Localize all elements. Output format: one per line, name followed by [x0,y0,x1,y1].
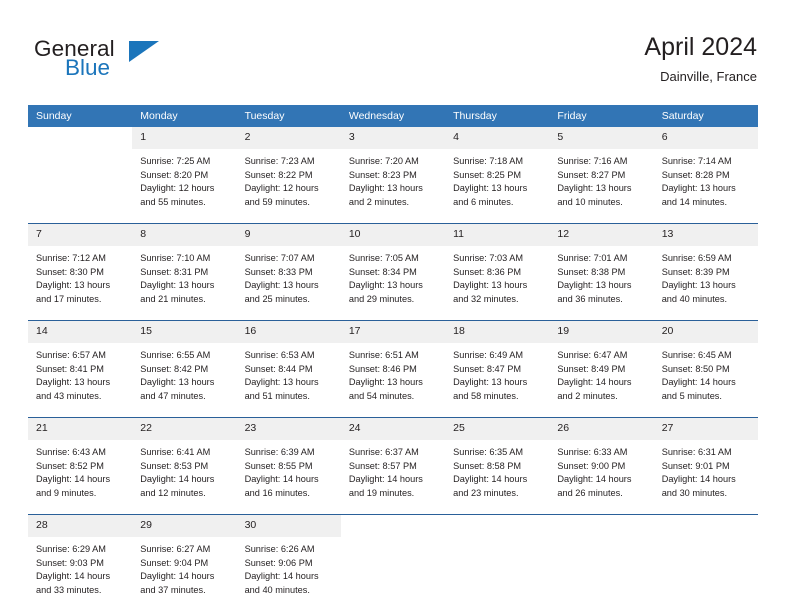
daylight-duration-line2: and 59 minutes. [245,196,335,210]
daylight-duration-line1: Daylight: 13 hours [245,376,335,390]
sunset-time: Sunset: 8:30 PM [36,266,126,280]
sunrise-time: Sunrise: 7:05 AM [349,252,439,266]
sunrise-time: Sunrise: 7:12 AM [36,252,126,266]
day-number: 15 [132,321,236,343]
day-details: Sunrise: 7:05 AMSunset: 8:34 PMDaylight:… [341,246,445,320]
day-details: Sunrise: 7:07 AMSunset: 8:33 PMDaylight:… [237,246,341,320]
day-details: Sunrise: 7:10 AMSunset: 8:31 PMDaylight:… [132,246,236,320]
sunset-time: Sunset: 9:06 PM [245,557,335,571]
day-details: Sunrise: 6:27 AMSunset: 9:04 PMDaylight:… [132,537,236,611]
weekday-header-row: Sunday Monday Tuesday Wednesday Thursday… [28,105,758,127]
sunrise-time: Sunrise: 7:03 AM [453,252,543,266]
calendar-day-cell[interactable]: 6Sunrise: 7:14 AMSunset: 8:28 PMDaylight… [654,127,758,224]
sunrise-time: Sunrise: 6:59 AM [662,252,752,266]
calendar-header-row-group: Sunday Monday Tuesday Wednesday Thursday… [28,105,758,127]
calendar-day-cell[interactable]: 3Sunrise: 7:20 AMSunset: 8:23 PMDaylight… [341,127,445,224]
day-number: 4 [445,127,549,149]
day-details: Sunrise: 6:45 AMSunset: 8:50 PMDaylight:… [654,343,758,417]
day-details: Sunrise: 7:18 AMSunset: 8:25 PMDaylight:… [445,149,549,223]
sunrise-time: Sunrise: 7:20 AM [349,155,439,169]
weekday-header-sunday: Sunday [28,105,132,127]
daylight-duration-line2: and 55 minutes. [140,196,230,210]
day-details: Sunrise: 6:37 AMSunset: 8:57 PMDaylight:… [341,440,445,514]
sunrise-time: Sunrise: 6:27 AM [140,543,230,557]
sunset-time: Sunset: 8:33 PM [245,266,335,280]
sunset-time: Sunset: 8:49 PM [557,363,647,377]
calendar-week-row: 28Sunrise: 6:29 AMSunset: 9:03 PMDayligh… [28,515,758,612]
page-header: General Blue April 2024 Dainville, Franc… [0,0,792,100]
sunset-time: Sunset: 8:23 PM [349,169,439,183]
day-number: 14 [28,321,132,343]
daylight-duration-line1: Daylight: 13 hours [557,182,647,196]
sunset-time: Sunset: 8:39 PM [662,266,752,280]
daylight-duration-line2: and 58 minutes. [453,390,543,404]
sunset-time: Sunset: 8:36 PM [453,266,543,280]
sunset-time: Sunset: 8:27 PM [557,169,647,183]
sunrise-time: Sunrise: 6:37 AM [349,446,439,460]
daylight-duration-line1: Daylight: 13 hours [245,279,335,293]
calendar-day-cell[interactable]: 2Sunrise: 7:23 AMSunset: 8:22 PMDaylight… [237,127,341,224]
day-details: Sunrise: 6:35 AMSunset: 8:58 PMDaylight:… [445,440,549,514]
calendar-week-row: 1Sunrise: 7:25 AMSunset: 8:20 PMDaylight… [28,127,758,224]
daylight-duration-line1: Daylight: 14 hours [662,376,752,390]
calendar-day-cell[interactable]: 14Sunrise: 6:57 AMSunset: 8:41 PMDayligh… [28,321,132,418]
calendar-day-cell[interactable]: 8Sunrise: 7:10 AMSunset: 8:31 PMDaylight… [132,224,236,321]
calendar-day-cell[interactable]: 11Sunrise: 7:03 AMSunset: 8:36 PMDayligh… [445,224,549,321]
calendar-day-cell-empty [28,127,132,224]
calendar-day-cell[interactable]: 10Sunrise: 7:05 AMSunset: 8:34 PMDayligh… [341,224,445,321]
day-number: 24 [341,418,445,440]
sunrise-sunset-calendar-table: Sunday Monday Tuesday Wednesday Thursday… [28,105,758,611]
day-number: 5 [549,127,653,149]
sunrise-time: Sunrise: 6:41 AM [140,446,230,460]
sunrise-time: Sunrise: 6:51 AM [349,349,439,363]
page-title: April 2024 [644,32,757,62]
sunrise-time: Sunrise: 7:07 AM [245,252,335,266]
daylight-duration-line1: Daylight: 14 hours [245,570,335,584]
calendar-day-cell[interactable]: 12Sunrise: 7:01 AMSunset: 8:38 PMDayligh… [549,224,653,321]
day-number: 17 [341,321,445,343]
calendar-day-cell-empty [549,515,653,612]
sunrise-time: Sunrise: 7:16 AM [557,155,647,169]
sunset-time: Sunset: 8:31 PM [140,266,230,280]
sunrise-time: Sunrise: 6:49 AM [453,349,543,363]
sunrise-time: Sunrise: 6:55 AM [140,349,230,363]
day-details: Sunrise: 6:51 AMSunset: 8:46 PMDaylight:… [341,343,445,417]
sunrise-time: Sunrise: 6:33 AM [557,446,647,460]
daylight-duration-line1: Daylight: 13 hours [557,279,647,293]
calendar-day-cell[interactable]: 25Sunrise: 6:35 AMSunset: 8:58 PMDayligh… [445,418,549,515]
calendar-day-cell[interactable]: 26Sunrise: 6:33 AMSunset: 9:00 PMDayligh… [549,418,653,515]
sunrise-time: Sunrise: 7:18 AM [453,155,543,169]
day-number: 29 [132,515,236,537]
day-number: 3 [341,127,445,149]
day-details: Sunrise: 7:20 AMSunset: 8:23 PMDaylight:… [341,149,445,223]
daylight-duration-line1: Daylight: 14 hours [557,473,647,487]
day-number [445,515,549,537]
daylight-duration-line1: Daylight: 14 hours [557,376,647,390]
calendar-day-cell[interactable]: 9Sunrise: 7:07 AMSunset: 8:33 PMDaylight… [237,224,341,321]
calendar-body: 1Sunrise: 7:25 AMSunset: 8:20 PMDaylight… [28,127,758,611]
sunrise-time: Sunrise: 6:47 AM [557,349,647,363]
day-number: 1 [132,127,236,149]
calendar-day-cell[interactable]: 19Sunrise: 6:47 AMSunset: 8:49 PMDayligh… [549,321,653,418]
daylight-duration-line2: and 2 minutes. [557,390,647,404]
general-blue-logo: General Blue [34,36,234,88]
day-details [28,149,132,223]
daylight-duration-line2: and 26 minutes. [557,487,647,501]
day-number: 25 [445,418,549,440]
daylight-duration-line1: Daylight: 13 hours [453,376,543,390]
daylight-duration-line1: Daylight: 12 hours [140,182,230,196]
title-block: April 2024 Dainville, France [644,32,757,86]
day-details: Sunrise: 7:03 AMSunset: 8:36 PMDaylight:… [445,246,549,320]
day-number: 10 [341,224,445,246]
day-number: 8 [132,224,236,246]
day-details: Sunrise: 6:49 AMSunset: 8:47 PMDaylight:… [445,343,549,417]
day-number: 20 [654,321,758,343]
calendar-day-cell[interactable]: 28Sunrise: 6:29 AMSunset: 9:03 PMDayligh… [28,515,132,612]
day-details: Sunrise: 6:43 AMSunset: 8:52 PMDaylight:… [28,440,132,514]
sunrise-time: Sunrise: 6:39 AM [245,446,335,460]
day-number: 12 [549,224,653,246]
daylight-duration-line2: and 9 minutes. [36,487,126,501]
calendar-day-cell-empty [445,515,549,612]
daylight-duration-line2: and 37 minutes. [140,584,230,598]
day-number: 6 [654,127,758,149]
daylight-duration-line1: Daylight: 13 hours [662,279,752,293]
daylight-duration-line1: Daylight: 14 hours [349,473,439,487]
daylight-duration-line1: Daylight: 13 hours [349,279,439,293]
sunrise-time: Sunrise: 6:43 AM [36,446,126,460]
calendar-day-cell[interactable]: 21Sunrise: 6:43 AMSunset: 8:52 PMDayligh… [28,418,132,515]
weekday-header-tuesday: Tuesday [237,105,341,127]
weekday-header-thursday: Thursday [445,105,549,127]
daylight-duration-line1: Daylight: 14 hours [140,473,230,487]
calendar-week-row: 21Sunrise: 6:43 AMSunset: 8:52 PMDayligh… [28,418,758,515]
calendar-day-cell[interactable]: 29Sunrise: 6:27 AMSunset: 9:04 PMDayligh… [132,515,236,612]
daylight-duration-line2: and 6 minutes. [453,196,543,210]
sunrise-time: Sunrise: 6:26 AM [245,543,335,557]
sunrise-time: Sunrise: 7:25 AM [140,155,230,169]
calendar-day-cell[interactable]: 16Sunrise: 6:53 AMSunset: 8:44 PMDayligh… [237,321,341,418]
daylight-duration-line2: and 32 minutes. [453,293,543,307]
sunrise-time: Sunrise: 6:29 AM [36,543,126,557]
daylight-duration-line1: Daylight: 14 hours [140,570,230,584]
day-number: 13 [654,224,758,246]
day-details: Sunrise: 6:33 AMSunset: 9:00 PMDaylight:… [549,440,653,514]
sunrise-time: Sunrise: 6:57 AM [36,349,126,363]
daylight-duration-line2: and 16 minutes. [245,487,335,501]
calendar-day-cell[interactable]: 17Sunrise: 6:51 AMSunset: 8:46 PMDayligh… [341,321,445,418]
daylight-duration-line2: and 47 minutes. [140,390,230,404]
daylight-duration-line1: Daylight: 13 hours [36,279,126,293]
day-details: Sunrise: 6:47 AMSunset: 8:49 PMDaylight:… [549,343,653,417]
day-details: Sunrise: 7:16 AMSunset: 8:27 PMDaylight:… [549,149,653,223]
sunrise-time: Sunrise: 6:35 AM [453,446,543,460]
day-details: Sunrise: 6:39 AMSunset: 8:55 PMDaylight:… [237,440,341,514]
day-number: 18 [445,321,549,343]
daylight-duration-line2: and 33 minutes. [36,584,126,598]
calendar-day-cell[interactable]: 22Sunrise: 6:41 AMSunset: 8:53 PMDayligh… [132,418,236,515]
sunset-time: Sunset: 9:00 PM [557,460,647,474]
calendar-day-cell-empty [341,515,445,612]
daylight-duration-line1: Daylight: 13 hours [453,279,543,293]
calendar-day-cell[interactable]: 24Sunrise: 6:37 AMSunset: 8:57 PMDayligh… [341,418,445,515]
day-details: Sunrise: 6:57 AMSunset: 8:41 PMDaylight:… [28,343,132,417]
daylight-duration-line1: Daylight: 14 hours [245,473,335,487]
day-number: 22 [132,418,236,440]
day-number: 23 [237,418,341,440]
daylight-duration-line2: and 25 minutes. [245,293,335,307]
daylight-duration-line2: and 30 minutes. [662,487,752,501]
day-number [549,515,653,537]
day-number [341,515,445,537]
daylight-duration-line1: Daylight: 13 hours [36,376,126,390]
weekday-header-friday: Friday [549,105,653,127]
calendar-week-row: 14Sunrise: 6:57 AMSunset: 8:41 PMDayligh… [28,321,758,418]
sunset-time: Sunset: 8:50 PM [662,363,752,377]
calendar-page: General Blue April 2024 Dainville, Franc… [0,0,792,612]
daylight-duration-line2: and 21 minutes. [140,293,230,307]
day-number: 26 [549,418,653,440]
day-number: 30 [237,515,341,537]
daylight-duration-line1: Daylight: 12 hours [245,182,335,196]
day-number: 7 [28,224,132,246]
daylight-duration-line1: Daylight: 14 hours [453,473,543,487]
sunset-time: Sunset: 8:47 PM [453,363,543,377]
daylight-duration-line1: Daylight: 13 hours [453,182,543,196]
daylight-duration-line2: and 19 minutes. [349,487,439,501]
daylight-duration-line2: and 23 minutes. [453,487,543,501]
daylight-duration-line1: Daylight: 13 hours [349,182,439,196]
weekday-header-wednesday: Wednesday [341,105,445,127]
daylight-duration-line1: Daylight: 14 hours [36,473,126,487]
sunrise-time: Sunrise: 6:45 AM [662,349,752,363]
day-number: 9 [237,224,341,246]
calendar-day-cell[interactable]: 1Sunrise: 7:25 AMSunset: 8:20 PMDaylight… [132,127,236,224]
sunrise-time: Sunrise: 6:31 AM [662,446,752,460]
calendar-day-cell[interactable]: 13Sunrise: 6:59 AMSunset: 8:39 PMDayligh… [654,224,758,321]
sunrise-time: Sunrise: 6:53 AM [245,349,335,363]
sunset-time: Sunset: 8:41 PM [36,363,126,377]
logo-triangle-icon [129,41,159,62]
daylight-duration-line2: and 36 minutes. [557,293,647,307]
daylight-duration-line2: and 40 minutes. [662,293,752,307]
daylight-duration-line2: and 40 minutes. [245,584,335,598]
calendar-day-cell[interactable]: 23Sunrise: 6:39 AMSunset: 8:55 PMDayligh… [237,418,341,515]
day-details [341,537,445,611]
calendar-day-cell[interactable]: 18Sunrise: 6:49 AMSunset: 8:47 PMDayligh… [445,321,549,418]
sunset-time: Sunset: 8:42 PM [140,363,230,377]
calendar-day-cell-empty [654,515,758,612]
day-number [28,127,132,149]
sunset-time: Sunset: 8:28 PM [662,169,752,183]
calendar-day-cell[interactable]: 7Sunrise: 7:12 AMSunset: 8:30 PMDaylight… [28,224,132,321]
day-details: Sunrise: 6:31 AMSunset: 9:01 PMDaylight:… [654,440,758,514]
calendar-day-cell[interactable]: 4Sunrise: 7:18 AMSunset: 8:25 PMDaylight… [445,127,549,224]
day-details: Sunrise: 6:55 AMSunset: 8:42 PMDaylight:… [132,343,236,417]
calendar-day-cell[interactable]: 5Sunrise: 7:16 AMSunset: 8:27 PMDaylight… [549,127,653,224]
daylight-duration-line1: Daylight: 14 hours [36,570,126,584]
weekday-header-saturday: Saturday [654,105,758,127]
daylight-duration-line1: Daylight: 13 hours [140,279,230,293]
sunset-time: Sunset: 8:34 PM [349,266,439,280]
sunset-time: Sunset: 8:44 PM [245,363,335,377]
page-subtitle: Dainville, France [644,68,757,86]
sunset-time: Sunset: 8:46 PM [349,363,439,377]
day-number [654,515,758,537]
sunset-time: Sunset: 8:57 PM [349,460,439,474]
sunset-time: Sunset: 9:04 PM [140,557,230,571]
day-details: Sunrise: 7:14 AMSunset: 8:28 PMDaylight:… [654,149,758,223]
calendar-day-cell[interactable]: 27Sunrise: 6:31 AMSunset: 9:01 PMDayligh… [654,418,758,515]
sunset-time: Sunset: 8:52 PM [36,460,126,474]
sunrise-time: Sunrise: 7:23 AM [245,155,335,169]
day-details: Sunrise: 7:01 AMSunset: 8:38 PMDaylight:… [549,246,653,320]
calendar-day-cell[interactable]: 20Sunrise: 6:45 AMSunset: 8:50 PMDayligh… [654,321,758,418]
day-details [654,537,758,611]
daylight-duration-line2: and 54 minutes. [349,390,439,404]
calendar-day-cell[interactable]: 30Sunrise: 6:26 AMSunset: 9:06 PMDayligh… [237,515,341,612]
day-details: Sunrise: 6:53 AMSunset: 8:44 PMDaylight:… [237,343,341,417]
logo-text-blue: Blue [65,55,110,81]
daylight-duration-line2: and 29 minutes. [349,293,439,307]
sunrise-time: Sunrise: 7:14 AM [662,155,752,169]
sunset-time: Sunset: 8:38 PM [557,266,647,280]
day-details: Sunrise: 6:26 AMSunset: 9:06 PMDaylight:… [237,537,341,611]
calendar-week-row: 7Sunrise: 7:12 AMSunset: 8:30 PMDaylight… [28,224,758,321]
sunset-time: Sunset: 8:25 PM [453,169,543,183]
daylight-duration-line1: Daylight: 14 hours [662,473,752,487]
day-number: 16 [237,321,341,343]
day-number: 11 [445,224,549,246]
day-number: 27 [654,418,758,440]
sunset-time: Sunset: 9:01 PM [662,460,752,474]
daylight-duration-line2: and 10 minutes. [557,196,647,210]
daylight-duration-line2: and 51 minutes. [245,390,335,404]
daylight-duration-line2: and 5 minutes. [662,390,752,404]
sunset-time: Sunset: 8:55 PM [245,460,335,474]
daylight-duration-line1: Daylight: 13 hours [662,182,752,196]
day-details: Sunrise: 7:12 AMSunset: 8:30 PMDaylight:… [28,246,132,320]
day-details: Sunrise: 7:23 AMSunset: 8:22 PMDaylight:… [237,149,341,223]
day-details: Sunrise: 6:59 AMSunset: 8:39 PMDaylight:… [654,246,758,320]
day-details: Sunrise: 6:29 AMSunset: 9:03 PMDaylight:… [28,537,132,611]
daylight-duration-line2: and 14 minutes. [662,196,752,210]
day-details: Sunrise: 7:25 AMSunset: 8:20 PMDaylight:… [132,149,236,223]
sunset-time: Sunset: 8:53 PM [140,460,230,474]
sunrise-time: Sunrise: 7:10 AM [140,252,230,266]
daylight-duration-line1: Daylight: 13 hours [349,376,439,390]
day-details [549,537,653,611]
day-number: 21 [28,418,132,440]
sunset-time: Sunset: 8:20 PM [140,169,230,183]
sunset-time: Sunset: 8:58 PM [453,460,543,474]
sunset-time: Sunset: 8:22 PM [245,169,335,183]
daylight-duration-line2: and 17 minutes. [36,293,126,307]
sunset-time: Sunset: 9:03 PM [36,557,126,571]
day-number: 28 [28,515,132,537]
daylight-duration-line2: and 43 minutes. [36,390,126,404]
daylight-duration-line2: and 12 minutes. [140,487,230,501]
day-number: 2 [237,127,341,149]
day-number: 19 [549,321,653,343]
sunrise-time: Sunrise: 7:01 AM [557,252,647,266]
daylight-duration-line1: Daylight: 13 hours [140,376,230,390]
day-details [445,537,549,611]
day-details: Sunrise: 6:41 AMSunset: 8:53 PMDaylight:… [132,440,236,514]
weekday-header-monday: Monday [132,105,236,127]
daylight-duration-line2: and 2 minutes. [349,196,439,210]
calendar-day-cell[interactable]: 15Sunrise: 6:55 AMSunset: 8:42 PMDayligh… [132,321,236,418]
